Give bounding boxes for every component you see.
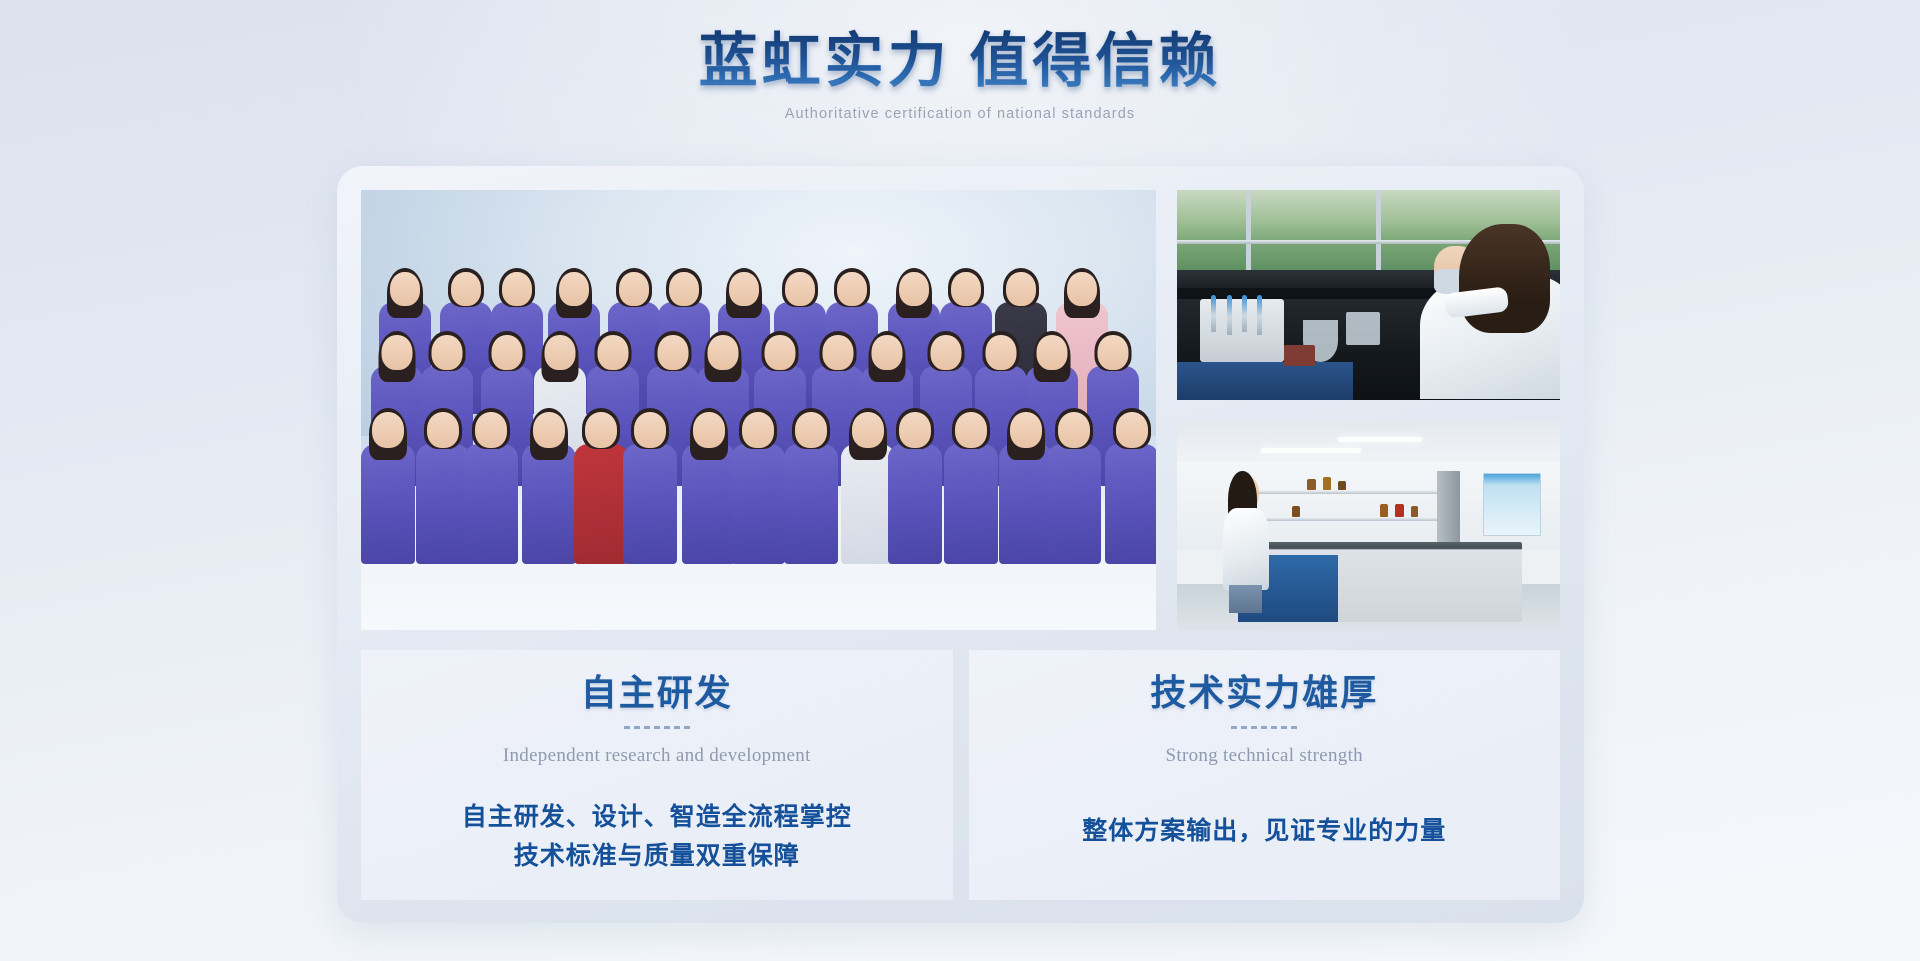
team-member-face [986, 335, 1017, 370]
team-member-face [872, 335, 903, 370]
team-member-face [1116, 412, 1148, 448]
photo-gallery [361, 190, 1560, 630]
reagent-bottle-2 [1323, 477, 1331, 490]
team-member-uniform [784, 444, 838, 564]
reagent-shelf-top [1246, 490, 1460, 494]
team-member-face [951, 272, 981, 306]
team-member-uniform [888, 444, 942, 564]
team-member-uniform [416, 444, 470, 564]
feature-card-body-line: 技术标准与质量双重保障 [381, 838, 933, 877]
pipette-4 [1257, 295, 1262, 335]
team-member-face [899, 412, 931, 448]
reagent-bottles [1284, 345, 1315, 366]
team-member-face [634, 412, 666, 448]
feature-card-title: 技术实力雄厚 [989, 672, 1541, 715]
team-member [731, 408, 785, 564]
team-member [464, 408, 518, 564]
team-member-face [533, 412, 565, 448]
team-member [522, 408, 576, 564]
feature-cards: 自主研发 Independent research and developmen… [361, 650, 1560, 900]
lab-ceiling [1177, 421, 1560, 467]
team-member-face [492, 335, 523, 370]
feature-card-subtitle: Strong technical strength [989, 745, 1541, 767]
team-member-uniform [522, 444, 576, 564]
team-member-face [427, 412, 459, 448]
beaker [1346, 312, 1380, 346]
reagent-shelf-bottom [1246, 517, 1460, 521]
team-member-face [669, 272, 699, 306]
team-member-face [899, 272, 929, 306]
team-member-uniform [574, 444, 628, 564]
team-member-face [1037, 335, 1068, 370]
team-member [416, 408, 470, 564]
team-member [1105, 408, 1156, 564]
page-title: 蓝虹实力 值得信赖 [699, 28, 1222, 96]
researcher-jeans [1229, 585, 1262, 613]
team-member-face [931, 335, 962, 370]
feature-card-technical-strength: 技术实力雄厚 Strong technical strength 整体方案输出，… [969, 650, 1561, 900]
team-member [574, 408, 628, 564]
team-member-face [597, 335, 628, 370]
reagent-bottle-7 [1292, 506, 1300, 516]
feature-card-body-line: 自主研发、设计、智造全流程掌控 [381, 799, 933, 838]
lab-technician-pipetting-photo [1177, 190, 1560, 400]
team-member-face [785, 272, 815, 306]
team-member-face [852, 412, 884, 448]
team-member [1047, 408, 1101, 564]
team-member-face [390, 272, 420, 306]
team-member-uniform [841, 444, 895, 564]
team-member-face [729, 272, 759, 306]
team-member [682, 408, 736, 564]
team-member-face [742, 412, 774, 448]
team-member-uniform [1047, 444, 1101, 564]
team-member-face [1058, 412, 1090, 448]
team-member-face [1067, 272, 1097, 306]
team-member [784, 408, 838, 564]
feature-card-title: 自主研发 [381, 672, 933, 715]
team-member-face [764, 335, 795, 370]
blue-cabinet [1177, 362, 1353, 400]
team-member [841, 408, 895, 564]
team-member-face [372, 412, 404, 448]
reagent-bottle-4 [1380, 504, 1388, 517]
team-member-face [475, 412, 507, 448]
pipette-3 [1242, 295, 1247, 333]
content-panel: 自主研发 Independent research and developmen… [337, 166, 1584, 923]
team-member-face [502, 272, 532, 306]
window-frame-mid [1376, 190, 1381, 274]
dashed-divider-icon [624, 726, 690, 729]
lab-researcher [1223, 471, 1269, 613]
laboratory-room-photo [1177, 421, 1560, 631]
team-member-face [585, 412, 617, 448]
feature-card-body: 整体方案输出，见证专业的力量 [989, 813, 1541, 852]
team-member-uniform [1105, 444, 1156, 564]
team-member-uniform [731, 444, 785, 564]
feature-card-subtitle: Independent research and development [381, 745, 933, 767]
team-member-face [708, 335, 739, 370]
team-member-face [657, 335, 688, 370]
team-member-face [795, 412, 827, 448]
feature-card-independent-rd: 自主研发 Independent research and developmen… [361, 650, 953, 900]
technician-hair [1459, 224, 1551, 333]
team-member-face [822, 335, 853, 370]
feature-card-body-line: 整体方案输出，见证专业的力量 [989, 813, 1541, 852]
dashed-divider-icon [1231, 726, 1297, 729]
team-member-face [544, 335, 575, 370]
team-member-face [619, 272, 649, 306]
team-member-uniform [623, 444, 677, 564]
team-member-face [381, 335, 412, 370]
team-member-face [451, 272, 481, 306]
reagent-bottle-3 [1338, 481, 1346, 489]
researcher-lab-coat [1223, 508, 1269, 591]
feature-card-body: 自主研发、设计、智造全流程掌控 技术标准与质量双重保障 [381, 799, 933, 877]
pipette-1 [1211, 295, 1216, 333]
page-subtitle: Authoritative certification of national … [0, 106, 1920, 122]
reagent-bottle-5 [1395, 504, 1403, 517]
lab-scene-one [1177, 190, 1560, 400]
team-member [999, 408, 1053, 564]
team-member-face [432, 335, 463, 370]
team-member [888, 408, 942, 564]
company-team-group-photo [361, 190, 1156, 630]
reagent-bottle-6 [1411, 506, 1419, 516]
team-member-uniform [999, 444, 1053, 564]
team-members-group [361, 304, 1156, 564]
team-member-face [837, 272, 867, 306]
window-frame-left [1246, 190, 1251, 274]
team-member-uniform [944, 444, 998, 564]
team-member-face [1097, 335, 1128, 370]
team-member-face [955, 412, 987, 448]
side-photo-column [1177, 190, 1560, 630]
ceiling-light-1 [1261, 448, 1361, 453]
reagent-bottle-1 [1307, 479, 1315, 489]
team-member-face [559, 272, 589, 306]
lab-technician [1395, 224, 1560, 400]
ceiling-light-2 [1338, 437, 1422, 442]
team-member-uniform [361, 444, 415, 564]
safety-poster [1483, 473, 1540, 536]
team-member-face [1010, 412, 1042, 448]
team-member [361, 408, 415, 564]
page-header: 蓝虹实力 值得信赖 Authoritative certification of… [0, 0, 1920, 122]
team-member [623, 408, 677, 564]
team-member [944, 408, 998, 564]
team-member-face [1006, 272, 1036, 306]
lab-scene-two [1177, 421, 1560, 631]
team-member-uniform [682, 444, 736, 564]
team-member-face [693, 412, 725, 448]
team-member-uniform [464, 444, 518, 564]
pipette-2 [1227, 295, 1232, 335]
